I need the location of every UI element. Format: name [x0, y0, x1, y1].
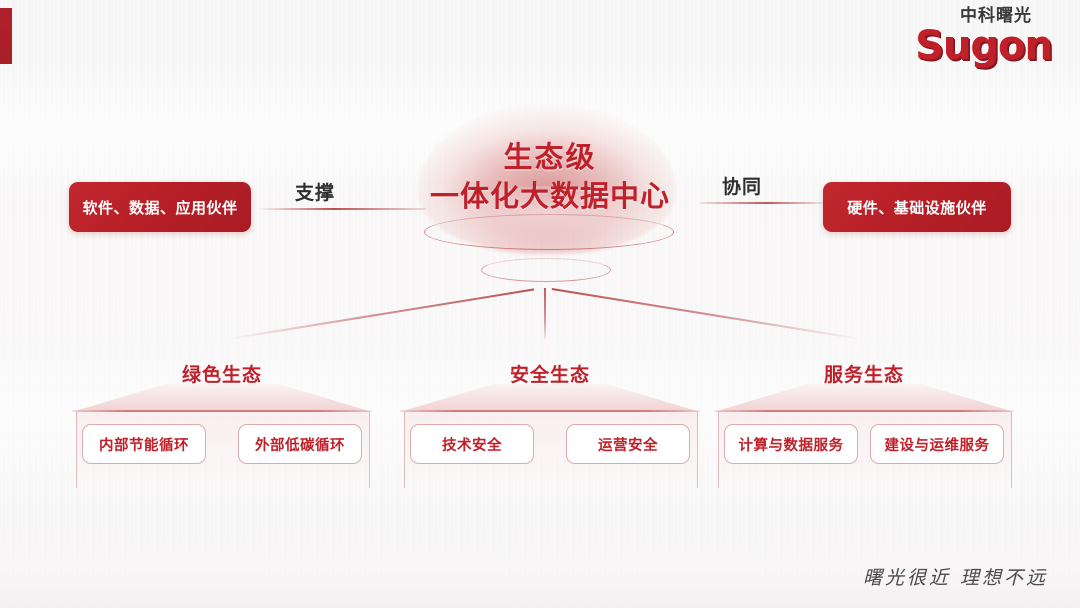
pillar-roof-service	[714, 384, 1014, 412]
center-title-line1: 生态级	[360, 138, 740, 176]
pillar-roof-security	[400, 384, 700, 412]
pillar-items-security: 技术安全 运营安全	[410, 424, 690, 464]
pillar-security[interactable]: 安全生态 技术安全 运营安全	[400, 384, 700, 494]
pillar-item[interactable]: 内部节能循环	[82, 424, 206, 464]
branch-line-middle	[544, 288, 546, 340]
center-ring-inner	[481, 258, 611, 282]
slide-canvas: 中科曙光 Sugon 生态级 一体化大数据中心 支撑 协同 软件、数据、应用伙伴…	[0, 0, 1080, 608]
pillar-service[interactable]: 服务生态 计算与数据服务 建设与运维服务	[714, 384, 1014, 494]
logo-wordmark: Sugon	[912, 26, 1052, 66]
pillar-items-green: 内部节能循环 外部低碳循环	[82, 424, 362, 464]
footer-tagline: 曙光很近 理想不远	[863, 563, 1048, 590]
connector-line-left	[258, 208, 426, 210]
relation-label-right: 协同	[722, 172, 762, 199]
connector-line-right	[700, 202, 832, 204]
pillar-green[interactable]: 绿色生态 内部节能循环 外部低碳循环	[72, 384, 372, 494]
relation-label-left: 支撑	[295, 178, 335, 205]
background-sheen-bottom	[0, 500, 1080, 608]
center-ring-outer	[424, 214, 674, 250]
pillar-items-service: 计算与数据服务 建设与运维服务	[724, 424, 1004, 464]
branch-line-left	[228, 288, 534, 339]
pillar-item[interactable]: 技术安全	[410, 424, 534, 464]
pillar-item[interactable]: 计算与数据服务	[724, 424, 858, 464]
pillar-title-security: 安全生态	[400, 360, 700, 387]
branch-line-right	[552, 288, 862, 340]
pillar-roof-green	[72, 384, 372, 412]
pillar-item[interactable]: 外部低碳循环	[238, 424, 362, 464]
pillar-title-green: 绿色生态	[72, 360, 372, 387]
sugon-logo: 中科曙光 Sugon	[912, 6, 1052, 68]
pillar-item[interactable]: 运营安全	[566, 424, 690, 464]
pillar-title-service: 服务生态	[714, 360, 1014, 387]
partner-box-software[interactable]: 软件、数据、应用伙伴	[69, 182, 251, 232]
center-title: 生态级 一体化大数据中心	[360, 138, 740, 216]
corner-accent-bar	[0, 8, 12, 64]
partner-box-hardware[interactable]: 硬件、基础设施伙伴	[823, 182, 1011, 232]
pillar-item[interactable]: 建设与运维服务	[870, 424, 1004, 464]
center-title-line2: 一体化大数据中心	[360, 176, 740, 216]
